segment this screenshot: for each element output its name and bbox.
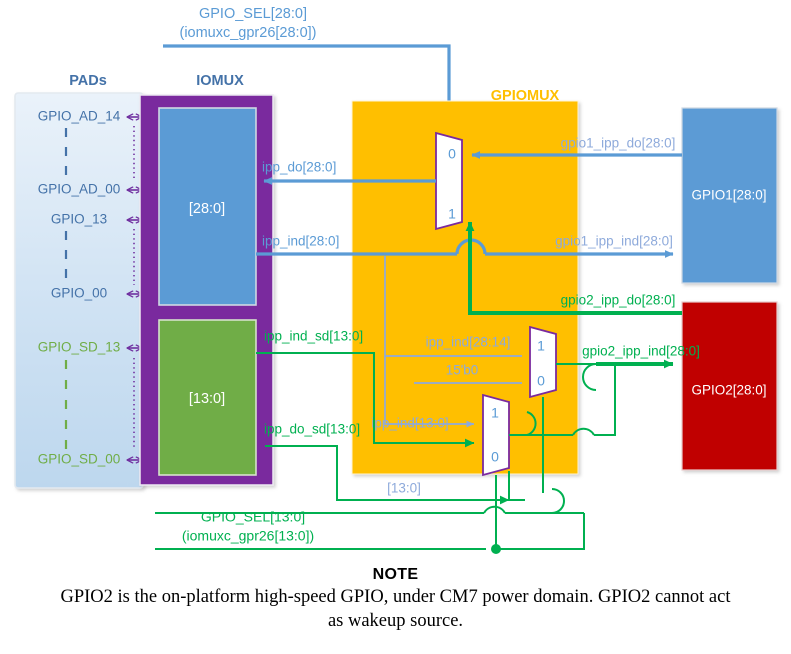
mux-3-input-0-label: 0	[491, 449, 499, 465]
pad-label-gpio-13: GPIO_13	[51, 212, 107, 227]
gpio-routing-diagram: PADs IOMUX GPIOMUX GPIO_SEL[28:0] (iomux…	[0, 0, 791, 654]
signal-gpio2-ipp-ind-label: gpio2_ipp_ind[28:0]	[582, 344, 700, 359]
iomux-heading: IOMUX	[196, 73, 244, 89]
signal-ipp-do-sd-label: ipp_do_sd[13:0]	[264, 422, 360, 437]
wire-mid-bus-hop1	[484, 507, 505, 513]
iomux-block-28-0-label: [28:0]	[189, 201, 225, 217]
pad-label-gpio-00: GPIO_00	[51, 286, 107, 301]
wire-mux3-out-up	[594, 366, 615, 435]
note-block: NOTE GPIO2 is the on-platform high-speed…	[0, 566, 791, 633]
signal-ipp-do-label: ipp_do[28:0]	[262, 160, 336, 175]
signal-bus-13-0-label: [13:0]	[387, 481, 421, 496]
signal-gpio1-ipp-do-label: gpio1_ipp_do[28:0]	[561, 136, 676, 151]
note-body: GPIO2 is the on-platform high-speed GPIO…	[0, 586, 791, 633]
pad-label-gpio-sd-13: GPIO_SD_13	[38, 340, 121, 355]
signal-ipp-ind-28-14-label: ipp_ind[28:14]	[426, 335, 511, 350]
note-title: NOTE	[0, 566, 791, 584]
wire-junction-dot	[491, 544, 501, 554]
signal-ipp-ind-13-0-label: ipp_ind[13:0]	[371, 416, 448, 431]
wire-lower-bus-right	[496, 513, 584, 549]
pad-label-gpio-ad-14: GPIO_AD_14	[38, 109, 121, 124]
mux-3-input-1-label: 1	[491, 405, 499, 421]
gpio-sel-28-line1: GPIO_SEL[28:0]	[199, 6, 307, 22]
wire-mid-bus-hop2	[552, 489, 564, 513]
gpio2-label: GPIO2[28:0]	[691, 383, 766, 398]
wire-ipp-do-sd	[509, 471, 525, 500]
mux-2-input-0-label: 0	[537, 373, 545, 389]
pads-heading: PADs	[69, 73, 107, 89]
mux-2-input-1-label: 1	[537, 338, 545, 354]
gpio-sel-13-line1: GPIO_SEL[13:0]	[201, 509, 305, 525]
wire-gpio2-ipp-ind-hop	[583, 364, 596, 390]
gpio-sel-28-line2: (iomuxc_gpr26[28:0])	[179, 25, 316, 41]
signal-gpio2-ipp-do-label: gpio2_ipp_do[28:0]	[561, 293, 676, 308]
pad-label-gpio-ad-00: GPIO_AD_00	[38, 182, 121, 197]
gpio1-label: GPIO1[28:0]	[691, 188, 766, 203]
iomux-block-13-0-label: [13:0]	[189, 391, 225, 407]
diagram-canvas: PADs IOMUX GPIOMUX GPIO_SEL[28:0] (iomux…	[0, 0, 791, 654]
signal-ipp-ind-sd-label: ipp_ind_sd[13:0]	[264, 329, 363, 344]
gpio-sel-13-line2: (iomuxc_gpr26[13:0])	[182, 528, 314, 544]
mux-1-input-1-label: 1	[448, 206, 456, 222]
signal-gpio1-ipp-ind-label: gpio1_ipp_ind[28:0]	[555, 234, 673, 249]
signal-ipp-ind-label: ipp_ind[28:0]	[262, 234, 339, 249]
pad-label-gpio-sd-00: GPIO_SD_00	[38, 452, 121, 467]
mux-1-input-0-label: 0	[448, 146, 456, 162]
signal-15b0-label: 15'b0	[446, 363, 479, 378]
